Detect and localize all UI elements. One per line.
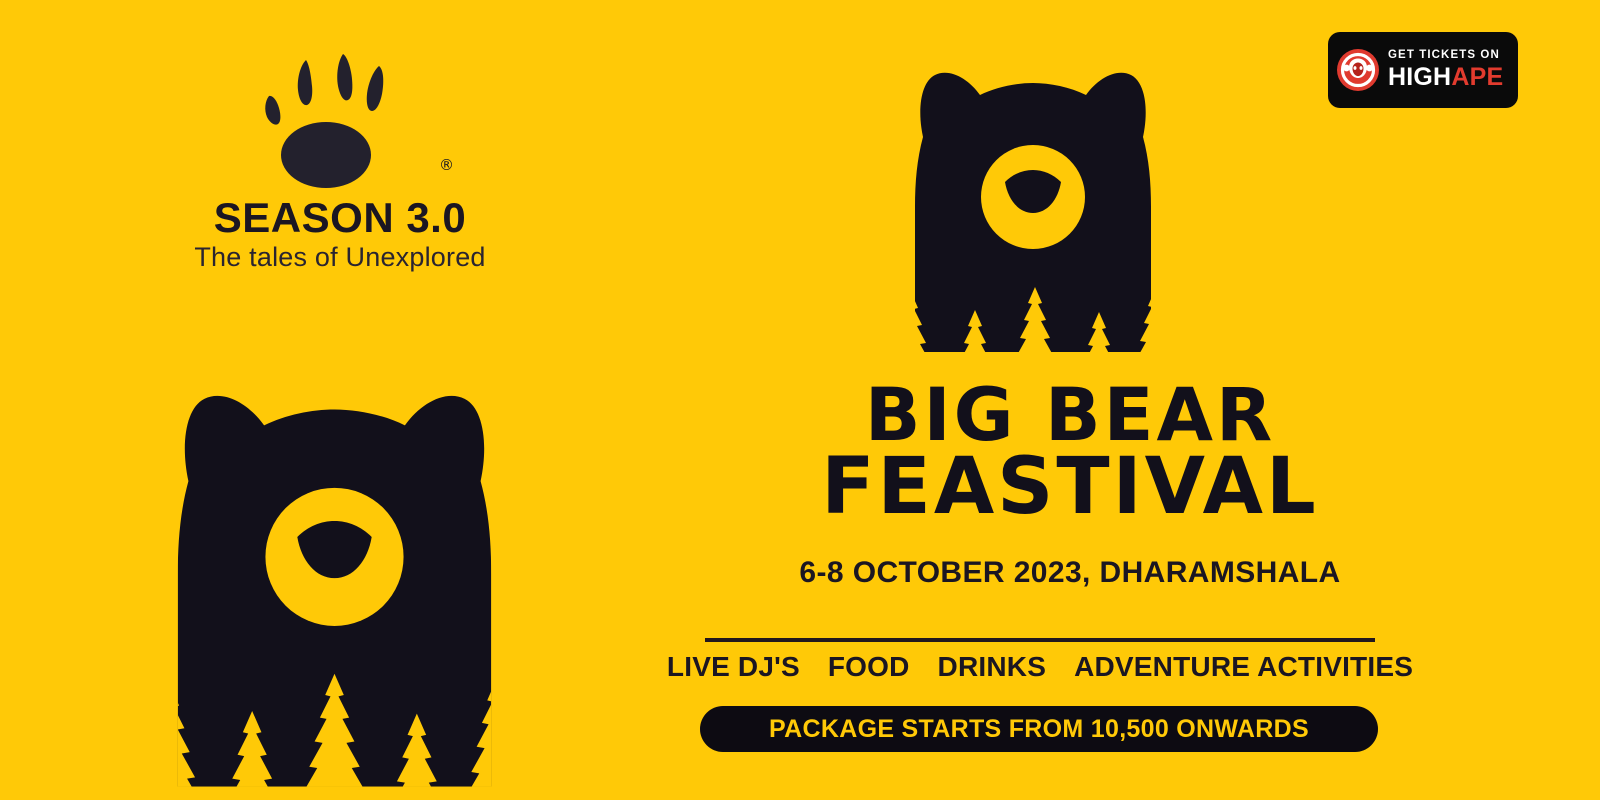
badge-brand-high: HIGH	[1388, 63, 1451, 91]
bear-head-forest-icon	[122, 355, 547, 795]
package-price-text: PACKAGE STARTS FROM 10,500 ONWARDS	[769, 715, 1309, 744]
feature-item: LIVE DJ'S	[653, 646, 814, 691]
headline-line-2: FEASTIVAL	[800, 451, 1340, 524]
feature-item: DRINKS	[924, 646, 1061, 691]
feature-item: ADVENTURE ACTIVITIES	[1060, 646, 1427, 691]
badge-tagline: GET TICKETS ON	[1388, 50, 1503, 62]
badge-brand-ape: APE	[1451, 63, 1503, 91]
highape-ape-logo-icon	[1336, 48, 1380, 92]
season-lockup: ® SEASON 3.0 The tales of Unexplored	[150, 48, 530, 273]
headline-line-1: BIG BEAR	[800, 382, 1340, 451]
package-price-badge: PACKAGE STARTS FROM 10,500 ONWARDS	[700, 706, 1378, 752]
season-title: SEASON 3.0	[150, 196, 530, 240]
page-title: BIG BEAR FEASTIVAL	[800, 382, 1340, 524]
badge-brand: HIGHAPE	[1388, 65, 1503, 90]
event-poster: GET TICKETS ON HIGHAPE ® SEASON 3.0 The …	[0, 0, 1600, 800]
feature-item: FOOD	[814, 646, 924, 691]
bear-head-forest-icon	[872, 42, 1194, 362]
season-subtitle: The tales of Unexplored	[150, 242, 530, 273]
features-divider-rule	[705, 638, 1375, 642]
features-list: LIVE DJ'S FOOD DRINKS ADVENTURE ACTIVITI…	[660, 646, 1420, 691]
badge-text-group: GET TICKETS ON HIGHAPE	[1388, 50, 1503, 90]
registered-trademark-icon: ®	[439, 156, 454, 174]
date-venue-text: 6-8 OCTOBER 2023, DHARAMSHALA	[760, 556, 1380, 590]
bear-paw-icon: ®	[240, 48, 440, 188]
get-tickets-badge[interactable]: GET TICKETS ON HIGHAPE	[1328, 32, 1518, 108]
